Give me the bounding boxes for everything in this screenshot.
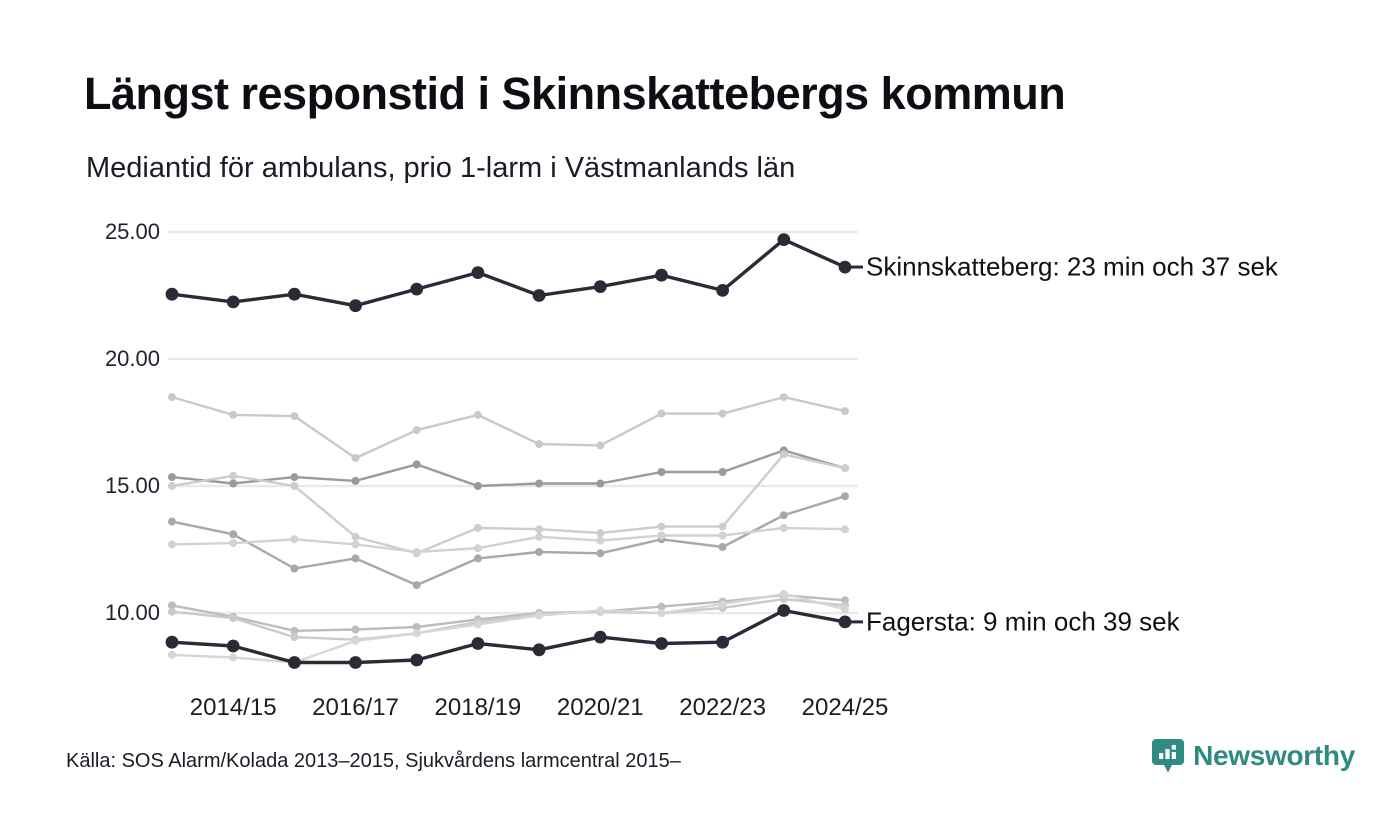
x-axis-tick-label: 2014/15 — [190, 694, 277, 722]
y-axis-tick-label: 20.00 — [20, 346, 160, 372]
series-annotation-skinnskatteberg: Skinnskatteberg: 23 min och 37 sek — [866, 252, 1278, 283]
x-axis-tick-label: 2022/23 — [679, 694, 766, 722]
x-axis-tick-label: 2018/19 — [435, 694, 522, 722]
source-note: Källa: SOS Alarm/Kolada 2013–2015, Sjukv… — [66, 750, 681, 773]
y-axis-tick-label: 25.00 — [20, 219, 160, 245]
y-axis-tick-label: 15.00 — [20, 473, 160, 499]
y-axis-tick-label: 10.00 — [20, 600, 160, 626]
logo-text: Newsworthy — [1193, 740, 1355, 772]
chart-bubble-icon — [1152, 739, 1184, 773]
series-kommun-a — [168, 393, 849, 462]
x-axis-tick-label: 2024/25 — [802, 694, 889, 722]
x-axis-tick-label: 2016/17 — [312, 694, 399, 722]
x-axis-tick-label: 2020/21 — [557, 694, 644, 722]
chart-page: Längst responstid i Skinnskattebergs kom… — [0, 0, 1400, 840]
series-kommun-b — [168, 446, 849, 490]
newsworthy-logo: Newsworthy — [1152, 739, 1355, 773]
series-skinnskatteberg — [166, 233, 852, 312]
series-annotation-fagersta: Fagersta: 9 min och 39 sek — [866, 606, 1180, 637]
